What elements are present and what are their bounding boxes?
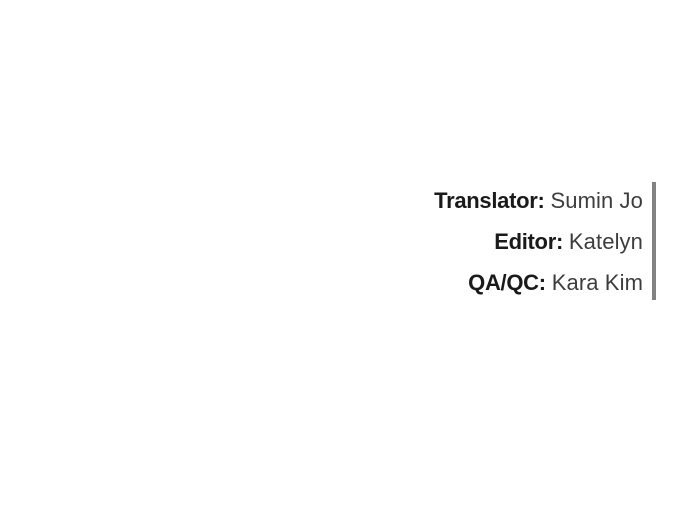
credit-line-translator: Translator: Sumin Jo [223, 180, 643, 221]
credit-name-value: Kara Kim [552, 270, 643, 295]
credit-role-label: Translator: [434, 188, 544, 213]
credit-role-label: QA/QC: [468, 270, 546, 295]
credit-name-value: Sumin Jo [550, 188, 643, 213]
credit-role-label: Editor: [494, 229, 563, 254]
credits-slide: Translator: Sumin Jo Editor: Katelyn QA/… [0, 0, 700, 509]
credit-line-editor: Editor: Katelyn [223, 221, 643, 262]
credits-block: Translator: Sumin Jo Editor: Katelyn QA/… [223, 180, 643, 303]
credits-vertical-rule [652, 182, 656, 300]
credit-line-qaqc: QA/QC: Kara Kim [223, 262, 643, 303]
credit-name-value: Katelyn [569, 229, 643, 254]
